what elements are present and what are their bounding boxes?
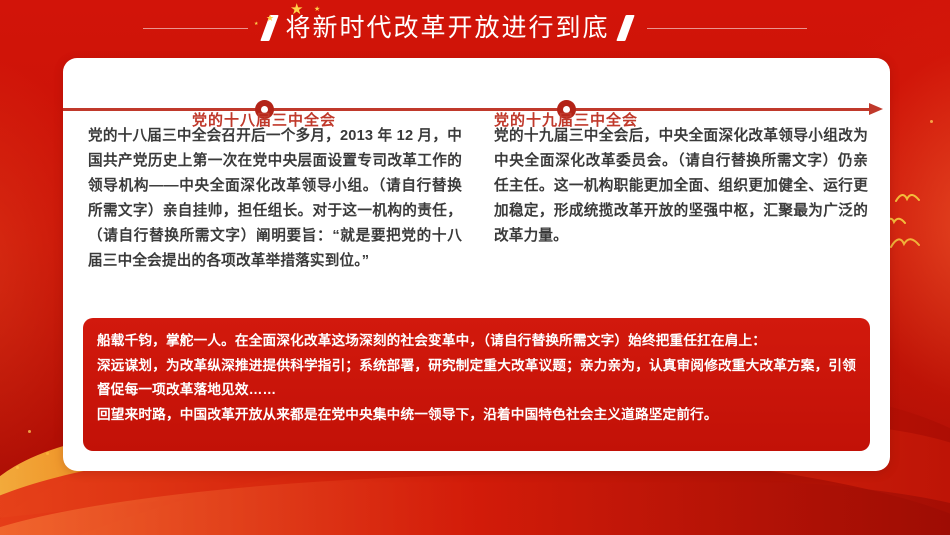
- bird-icon: [895, 192, 921, 206]
- slide-canvas: 将新时代改革开放进行到底 ★ ★ ★ ★ 党的十八届三中全会 党的十九届三中全会…: [0, 0, 950, 535]
- column-left-paragraph: 党的十八届三中全会召开后一个多月，2013 年 12 月，中国共产党历史上第一次…: [88, 124, 462, 274]
- column-right-paragraph: 党的十九届三中全会后，中央全面深化改革领导小组改为中央全面深化改革委员会。（请自…: [494, 124, 868, 249]
- sparkle-dot: [16, 466, 19, 469]
- highlight-paragraph-3: 回望来时路，中国改革开放从来都是在党中央集中统一领导下，沿着中国特色社会主义道路…: [97, 403, 856, 428]
- sparkle-dot: [28, 430, 31, 433]
- highlight-paragraph-1: 船载千钧，掌舵一人。在全面深化改革这场深刻的社会变革中，（请自行替换所需文字）始…: [97, 329, 856, 354]
- column-right: 党的十九届三中全会后，中央全面深化改革领导小组改为中央全面深化改革委员会。（请自…: [494, 124, 868, 274]
- highlight-box: 船载千钧，掌舵一人。在全面深化改革这场深刻的社会变革中，（请自行替换所需文字）始…: [83, 318, 870, 451]
- slash-icon: [616, 15, 634, 41]
- star-icon: ★: [254, 22, 258, 27]
- timeline: 党的十八届三中全会 党的十九届三中全会: [63, 103, 890, 115]
- header-rule-right: [647, 28, 807, 29]
- sparkle-dot: [46, 452, 49, 455]
- star-cluster: ★ ★ ★ ★: [252, 2, 342, 34]
- sparkle-dot: [930, 120, 933, 123]
- column-left: 党的十八届三中全会召开后一个多月，2013 年 12 月，中国共产党历史上第一次…: [88, 124, 462, 274]
- header-rule-left: [143, 28, 248, 29]
- star-icon: ★: [290, 2, 303, 17]
- slide-header: 将新时代改革开放进行到底: [0, 0, 950, 56]
- highlight-paragraph-2: 深远谋划，为改革纵深推进提供科学指引；系统部署，研究制定重大改革议题；亲力亲为，…: [97, 354, 856, 403]
- timeline-line: [63, 108, 875, 111]
- star-icon: ★: [266, 14, 274, 23]
- content-card: 党的十八届三中全会 党的十九届三中全会 党的十八届三中全会召开后一个多月，201…: [63, 58, 890, 471]
- star-icon: ★: [314, 6, 320, 13]
- text-columns: 党的十八届三中全会召开后一个多月，2013 年 12 月，中国共产党历史上第一次…: [88, 124, 868, 274]
- arrow-right-icon: [869, 103, 883, 115]
- bird-icon: [890, 236, 920, 252]
- ribbon-4: [0, 464, 950, 535]
